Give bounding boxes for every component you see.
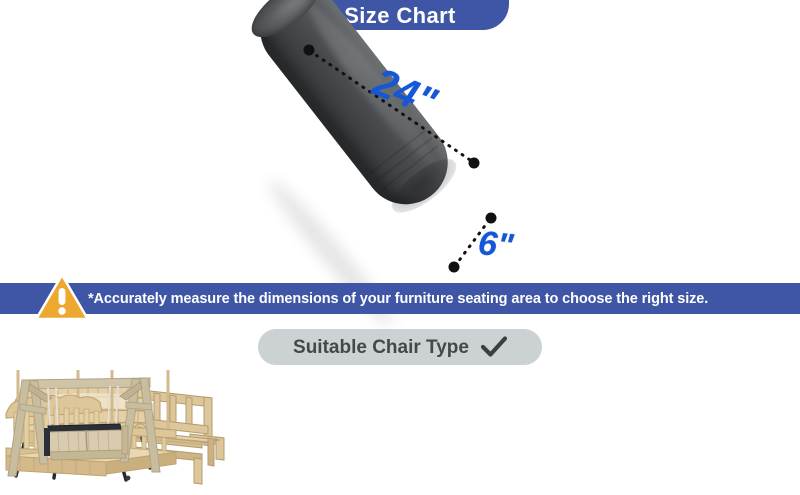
diameter-dimension-label: 6" [476,226,514,263]
size-chart-badge-label: Size Chart [344,5,456,27]
check-icon [481,336,507,358]
chair-example-a-frame-swing [0,368,172,486]
suitable-chair-examples [0,368,800,486]
measurement-notice-banner: *Accurately measure the dimensions of yo… [0,283,800,314]
measurement-notice-text: *Accurately measure the dimensions of yo… [88,291,708,307]
suitable-chair-type-label: Suitable Chair Type [293,338,469,357]
suitable-chair-type-pill: Suitable Chair Type [258,329,542,365]
size-chart-page: Size Chart 24" 6" *Accurately measure th… [0,0,800,495]
warning-triangle-icon [36,272,88,320]
